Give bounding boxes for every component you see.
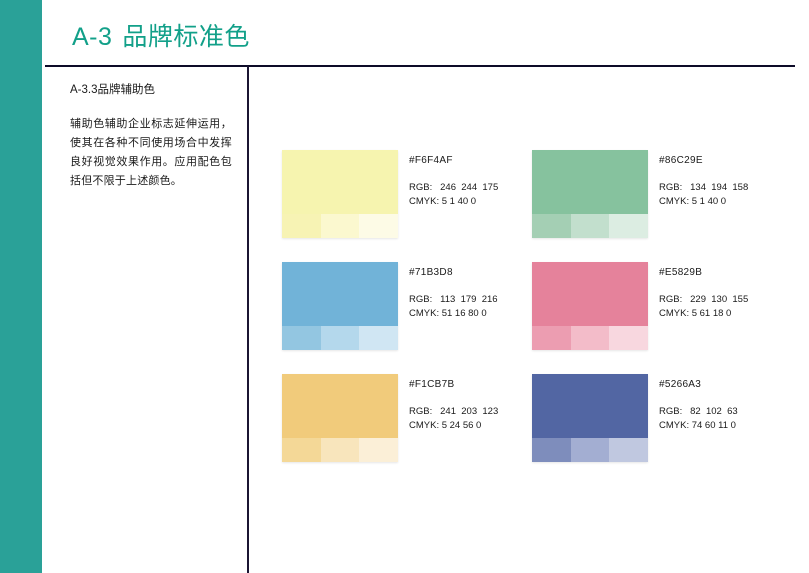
color-value-list: RGB: 246 244 175CMYK: 5 1 40 0 — [409, 181, 498, 209]
color-swatch-tint-strip — [282, 326, 398, 350]
color-swatch-info: #71B3D8RGB: 113 179 216CMYK: 51 16 80 0 — [409, 262, 498, 321]
header-divider-rule — [45, 65, 795, 67]
color-rgb-value: RGB: 113 179 216 — [409, 293, 498, 307]
color-swatch-tint — [282, 438, 321, 462]
page-title-label: 品牌标准色 — [122, 23, 250, 51]
color-hex-code: #E5829B — [659, 267, 748, 279]
color-swatch-block — [532, 262, 648, 350]
color-swatch-item: #86C29ERGB: 134 194 158CMYK: 5 1 40 0 — [532, 150, 782, 262]
color-swatch-tint — [359, 326, 398, 350]
color-rgb-value: RGB: 134 194 158 — [659, 181, 748, 195]
page-header: A-3品牌标准色 — [45, 0, 795, 66]
sidebar-body-text: 辅助色辅助企业标志延伸运用，使其在各种不同使用场合中发挥良好视觉效果作用。应用配… — [70, 115, 232, 191]
color-value-list: RGB: 241 203 123CMYK: 5 24 56 0 — [409, 405, 498, 433]
color-swatch-tint — [532, 326, 571, 350]
color-swatch-tint — [321, 214, 360, 238]
color-swatch-info: #E5829BRGB: 229 130 155CMYK: 5 61 18 0 — [659, 262, 748, 321]
color-hex-code: #F1CB7B — [409, 379, 498, 391]
color-swatch-tint-strip — [532, 326, 648, 350]
color-swatch-main — [282, 374, 398, 438]
color-swatch-block — [282, 150, 398, 238]
color-swatch-tint-strip — [282, 438, 398, 462]
color-swatch-tint — [609, 214, 648, 238]
color-cmyk-value: CMYK: 74 60 11 0 — [659, 419, 738, 433]
color-swatch-tint — [282, 214, 321, 238]
color-swatch-main — [532, 150, 648, 214]
color-swatch-block — [532, 374, 648, 462]
color-swatch-info: #86C29ERGB: 134 194 158CMYK: 5 1 40 0 — [659, 150, 748, 209]
color-hex-code: #F6F4AF — [409, 155, 498, 167]
color-swatch-tint — [359, 214, 398, 238]
color-swatch-tint — [609, 438, 648, 462]
color-rgb-value: RGB: 229 130 155 — [659, 293, 748, 307]
color-swatch-block — [282, 374, 398, 462]
sidebar-heading: A-3.3品牌辅助色 — [70, 82, 232, 99]
sidebar-description-panel: A-3.3品牌辅助色 辅助色辅助企业标志延伸运用，使其在各种不同使用场合中发挥良… — [70, 82, 232, 191]
color-value-list: RGB: 82 102 63CMYK: 74 60 11 0 — [659, 405, 738, 433]
color-swatch-main — [532, 374, 648, 438]
left-accent-band — [0, 0, 42, 573]
color-swatch-tint — [609, 326, 648, 350]
color-swatch-main — [532, 262, 648, 326]
color-swatch-tint-strip — [532, 438, 648, 462]
color-rgb-value: RGB: 241 203 123 — [409, 405, 498, 419]
color-hex-code: #5266A3 — [659, 379, 738, 391]
page-title: A-3品牌标准色 — [72, 22, 250, 52]
color-cmyk-value: CMYK: 5 24 56 0 — [409, 419, 498, 433]
color-swatch-tint-strip — [532, 214, 648, 238]
color-swatch-main — [282, 150, 398, 214]
color-swatch-tint — [571, 214, 610, 238]
color-swatch-tint — [571, 438, 610, 462]
color-cmyk-value: CMYK: 5 61 18 0 — [659, 307, 748, 321]
color-swatch-item: #71B3D8RGB: 113 179 216CMYK: 51 16 80 0 — [282, 262, 532, 374]
color-swatch-item: #F1CB7BRGB: 241 203 123CMYK: 5 24 56 0 — [282, 374, 532, 486]
color-hex-code: #86C29E — [659, 155, 748, 167]
color-swatch-item: #5266A3RGB: 82 102 63CMYK: 74 60 11 0 — [532, 374, 782, 486]
color-swatch-item: #F6F4AFRGB: 246 244 175CMYK: 5 1 40 0 — [282, 150, 532, 262]
page-title-code: A-3 — [72, 23, 112, 51]
color-swatch-tint — [532, 214, 571, 238]
color-swatch-tint — [321, 326, 360, 350]
color-swatch-tint — [571, 326, 610, 350]
color-swatch-tint — [532, 438, 571, 462]
color-swatch-info: #F6F4AFRGB: 246 244 175CMYK: 5 1 40 0 — [409, 150, 498, 209]
color-cmyk-value: CMYK: 51 16 80 0 — [409, 307, 498, 321]
color-swatch-tint — [282, 326, 321, 350]
color-swatch-tint — [359, 438, 398, 462]
color-cmyk-value: CMYK: 5 1 40 0 — [409, 195, 498, 209]
color-rgb-value: RGB: 82 102 63 — [659, 405, 738, 419]
color-cmyk-value: CMYK: 5 1 40 0 — [659, 195, 748, 209]
color-value-list: RGB: 113 179 216CMYK: 51 16 80 0 — [409, 293, 498, 321]
color-swatch-main — [282, 262, 398, 326]
color-swatch-tint — [321, 438, 360, 462]
color-swatch-info: #5266A3RGB: 82 102 63CMYK: 74 60 11 0 — [659, 374, 738, 433]
color-swatch-tint-strip — [282, 214, 398, 238]
color-swatch-grid: #F6F4AFRGB: 246 244 175CMYK: 5 1 40 0#86… — [282, 150, 782, 486]
column-divider-rule — [247, 66, 249, 573]
color-rgb-value: RGB: 246 244 175 — [409, 181, 498, 195]
color-swatch-info: #F1CB7BRGB: 241 203 123CMYK: 5 24 56 0 — [409, 374, 498, 433]
color-value-list: RGB: 229 130 155CMYK: 5 61 18 0 — [659, 293, 748, 321]
color-swatch-block — [532, 150, 648, 238]
color-value-list: RGB: 134 194 158CMYK: 5 1 40 0 — [659, 181, 748, 209]
color-swatch-block — [282, 262, 398, 350]
color-swatch-item: #E5829BRGB: 229 130 155CMYK: 5 61 18 0 — [532, 262, 782, 374]
color-hex-code: #71B3D8 — [409, 267, 498, 279]
